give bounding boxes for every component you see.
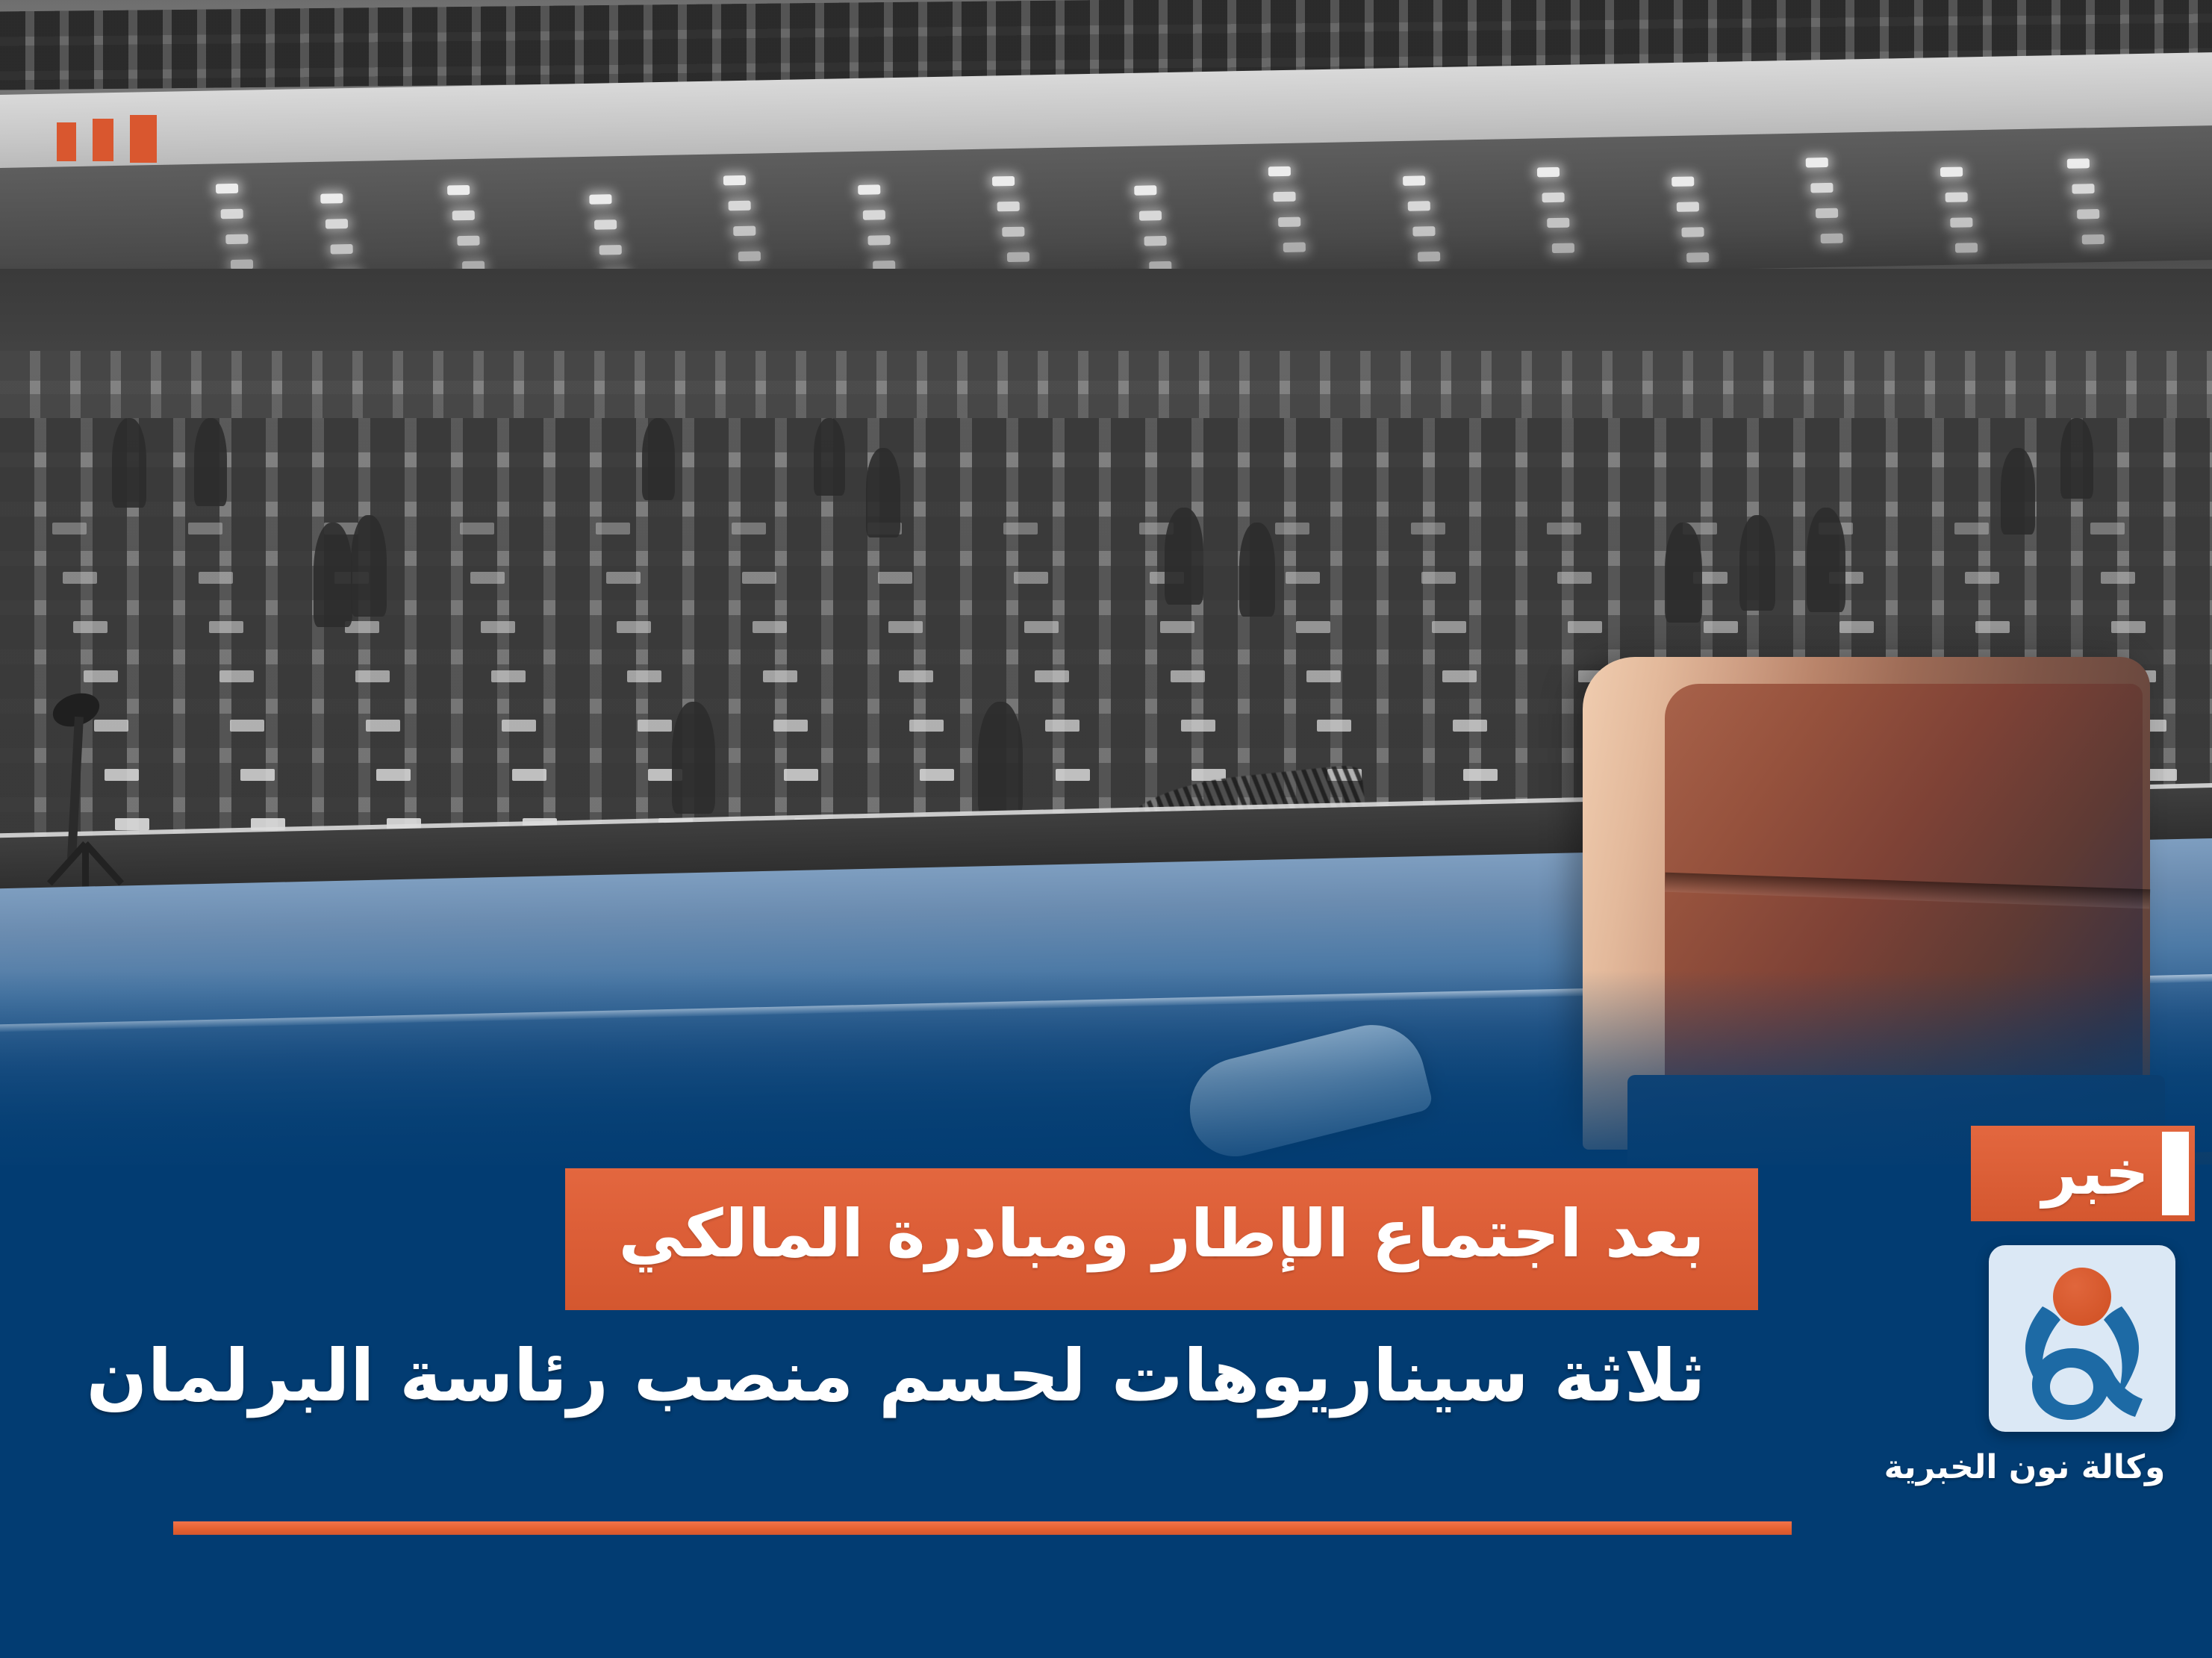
news-badge-label: خبر (2016, 1143, 2149, 1204)
headline-text: ثلاثة سيناريوهات لحسم منصب رئاسة البرلما… (0, 1336, 1792, 1417)
news-card: بعد اجتماع الإطار ومبادرة المالكي ثلاثة … (0, 0, 2212, 1658)
agency-logo (1989, 1245, 2175, 1432)
orange-divider (173, 1521, 1792, 1535)
parliament-photo (0, 0, 2212, 1165)
logo-figure-icon (1989, 1245, 2175, 1432)
news-badge: خبر (1971, 1126, 2195, 1221)
kicker-text: بعد اجتماع الإطار ومبادرة المالكي (619, 1201, 1705, 1267)
brand-cluster: خبر وكالة نون الخبرية (1866, 1126, 2195, 1486)
agency-name: وكالة نون الخبرية (1866, 1450, 2195, 1486)
kicker-banner: بعد اجتماع الإطار ومبادرة المالكي (565, 1168, 1758, 1310)
three-bar-watermark-icon (57, 115, 157, 163)
